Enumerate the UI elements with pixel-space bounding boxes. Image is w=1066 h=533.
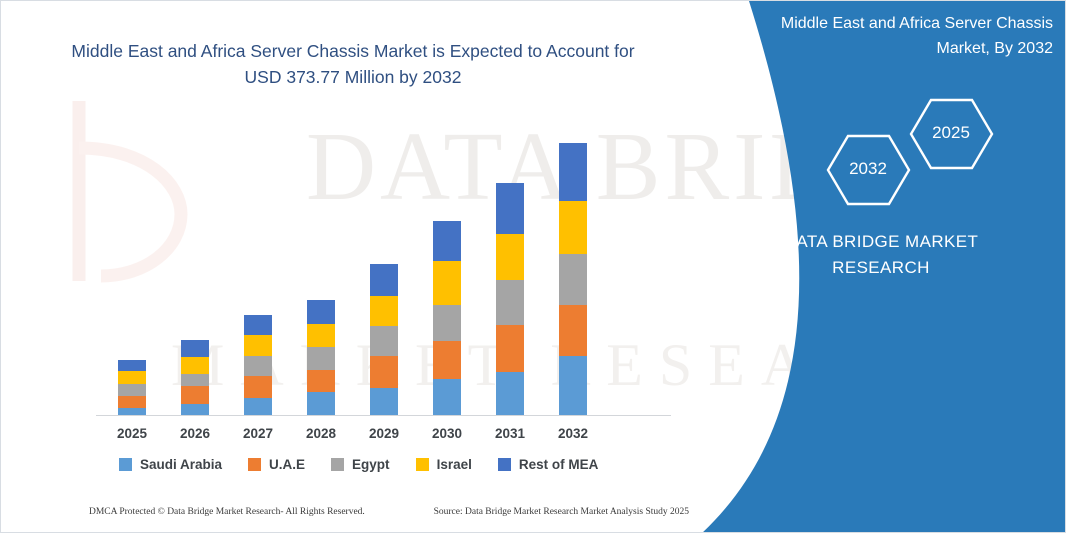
legend-label: U.A.E <box>269 457 305 472</box>
legend-swatch-icon <box>119 458 132 471</box>
bar-column <box>307 300 335 415</box>
legend-item[interactable]: U.A.E <box>248 457 305 472</box>
bar-segment <box>307 392 335 415</box>
x-axis-line <box>96 415 671 416</box>
bar-column <box>433 221 461 415</box>
bar-segment <box>181 340 209 357</box>
bar-segment <box>370 296 398 326</box>
bar-segment <box>307 324 335 347</box>
brand-panel: Middle East and Africa Server Chassis Ma… <box>691 1 1066 533</box>
bar-segment <box>433 261 461 305</box>
chart-title: Middle East and Africa Server Chassis Ma… <box>63 38 643 90</box>
legend-item[interactable]: Saudi Arabia <box>119 457 222 472</box>
x-axis-label: 2025 <box>102 426 162 441</box>
bar-segment <box>307 347 335 370</box>
bar-segment <box>559 254 587 305</box>
bar-column <box>370 264 398 415</box>
bar-column <box>118 360 146 415</box>
bar-column <box>244 315 272 415</box>
bar-segment <box>244 335 272 356</box>
bar-segment <box>307 370 335 392</box>
bar-segment <box>496 372 524 415</box>
chart-plot-area <box>96 121 671 416</box>
bar-segment <box>433 305 461 341</box>
bar-segment <box>370 326 398 356</box>
x-axis-label: 2027 <box>228 426 288 441</box>
legend-swatch-icon <box>331 458 344 471</box>
brand-name: DATA BRIDGE MARKET RESEARCH <box>736 229 1026 281</box>
footer-copyright: DMCA Protected © Data Bridge Market Rese… <box>89 507 365 517</box>
bar-segment <box>118 408 146 415</box>
bar-segment <box>496 234 524 280</box>
infographic-page: DATA BRIDGE MARKET RESEARCH Middle East … <box>0 0 1066 533</box>
bar-segment <box>118 371 146 384</box>
bar-segment <box>370 356 398 388</box>
bar-segment <box>559 305 587 356</box>
bar-segment <box>370 388 398 415</box>
bar-segment <box>433 221 461 261</box>
bar-segment <box>496 183 524 234</box>
footer-source: Source: Data Bridge Market Research Mark… <box>434 507 689 517</box>
bar-segment <box>244 376 272 398</box>
legend-swatch-icon <box>416 458 429 471</box>
bar-segment <box>181 357 209 374</box>
legend-label: Israel <box>437 457 472 472</box>
bar-segment <box>559 356 587 415</box>
x-axis-label: 2028 <box>291 426 351 441</box>
brand-line-2: RESEARCH <box>736 255 1026 281</box>
x-axis-label: 2031 <box>480 426 540 441</box>
bar-column <box>559 143 587 415</box>
bar-segment <box>496 280 524 325</box>
legend-item[interactable]: Israel <box>416 457 472 472</box>
bar-segment <box>433 379 461 415</box>
brand-panel-title: Middle East and Africa Server Chassis Ma… <box>743 11 1053 61</box>
legend-label: Egypt <box>352 457 390 472</box>
brand-line-1: DATA BRIDGE MARKET <box>736 229 1026 255</box>
bar-segment <box>118 396 146 408</box>
x-axis-labels: 20252026202720282029203020312032 <box>96 426 671 446</box>
hexagon-group: 2025 2032 <box>806 96 996 206</box>
legend-item[interactable]: Rest of MEA <box>498 457 599 472</box>
footer: DMCA Protected © Data Bridge Market Rese… <box>89 507 689 517</box>
bar-segment <box>181 404 209 415</box>
legend-item[interactable]: Egypt <box>331 457 390 472</box>
bar-segment <box>118 384 146 396</box>
x-axis-label: 2026 <box>165 426 225 441</box>
chart-panel: Middle East and Africa Server Chassis Ma… <box>1 1 761 533</box>
bar-segment <box>244 356 272 376</box>
bar-segment <box>244 315 272 335</box>
x-axis-label: 2030 <box>417 426 477 441</box>
chart-legend: Saudi ArabiaU.A.EEgyptIsraelRest of MEA <box>119 457 624 472</box>
legend-swatch-icon <box>248 458 261 471</box>
x-axis-label: 2032 <box>543 426 603 441</box>
bar-segment <box>559 143 587 201</box>
bar-segment <box>559 201 587 254</box>
x-axis-label: 2029 <box>354 426 414 441</box>
bar-segment <box>433 341 461 379</box>
hex-label-2032: 2032 <box>833 159 903 179</box>
legend-label: Saudi Arabia <box>140 457 222 472</box>
hexagon-icons <box>806 96 996 206</box>
bar-column <box>181 340 209 415</box>
bar-segment <box>307 300 335 324</box>
bar-segment <box>118 360 146 371</box>
bar-segment <box>496 325 524 372</box>
legend-swatch-icon <box>498 458 511 471</box>
bar-column <box>496 183 524 415</box>
legend-label: Rest of MEA <box>519 457 599 472</box>
bar-segment <box>181 386 209 404</box>
bar-segment <box>244 398 272 415</box>
bar-segment <box>370 264 398 296</box>
hex-label-2025: 2025 <box>916 123 986 143</box>
bar-segment <box>181 374 209 386</box>
